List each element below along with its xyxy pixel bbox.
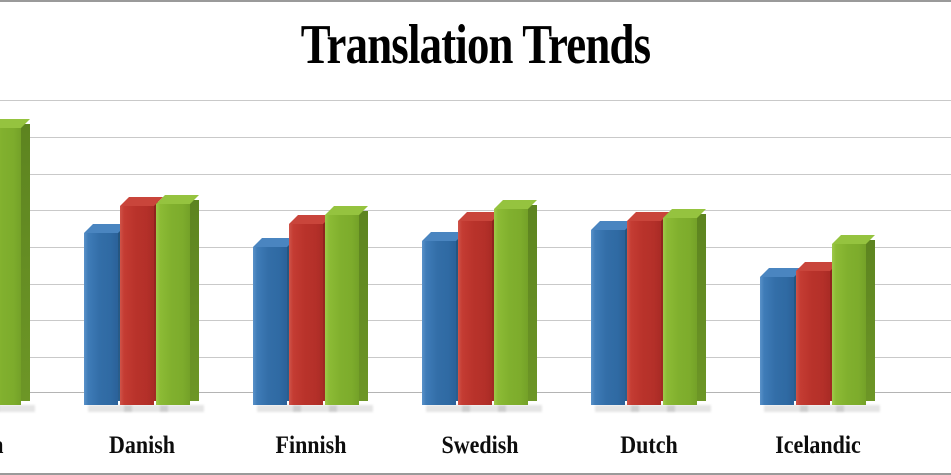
- bar-front-face: [458, 221, 492, 405]
- bar-swedish-series-3[interactable]: [494, 209, 528, 405]
- bar-front-face: [832, 244, 866, 405]
- category-label-danish: Danish: [62, 432, 220, 460]
- bar-danish-series-2[interactable]: [120, 206, 154, 405]
- bar-dutch-series-2[interactable]: [627, 221, 661, 405]
- bar-danish-series-1[interactable]: [84, 233, 118, 405]
- bar-shadow: [160, 405, 204, 412]
- bar-side-face: [359, 211, 368, 401]
- bar-side-face: [528, 205, 537, 401]
- category-label-icelandic: Icelandic: [738, 432, 896, 460]
- bar-shadow: [329, 405, 373, 412]
- chart-title: Translation Trends: [95, 14, 856, 76]
- bar-front-face: [422, 241, 456, 405]
- category-axis: vegianDanishFinnishSwedishDutchIcelandic: [0, 414, 951, 475]
- category-label-finnish: Finnish: [231, 432, 389, 460]
- category-label-dutch: Dutch: [569, 432, 727, 460]
- bar-finnish-series-1[interactable]: [253, 247, 287, 405]
- chart-container: Translation Trends vegianDanishFinnishSw…: [0, 0, 951, 475]
- bar-shadow: [0, 405, 35, 412]
- bar-dutch-series-1[interactable]: [591, 230, 625, 405]
- bar-icelandic-series-3[interactable]: [832, 244, 866, 405]
- bar-side-face: [190, 200, 199, 401]
- bars-layer: [0, 98, 951, 414]
- bar-norwegian-series-3[interactable]: [0, 128, 21, 405]
- bar-front-face: [289, 224, 323, 405]
- bar-front-face: [494, 209, 528, 405]
- bar-swedish-series-2[interactable]: [458, 221, 492, 405]
- bar-front-face: [760, 277, 794, 405]
- bar-side-face: [866, 240, 875, 401]
- bar-shadow: [667, 405, 711, 412]
- bar-front-face: [0, 128, 21, 405]
- plot-area: [0, 98, 951, 414]
- bar-front-face: [120, 206, 154, 405]
- bar-icelandic-series-2[interactable]: [796, 271, 830, 405]
- bar-front-face: [253, 247, 287, 405]
- bar-side-face: [697, 214, 706, 401]
- bar-finnish-series-3[interactable]: [325, 215, 359, 405]
- bar-front-face: [84, 233, 118, 405]
- bar-shadow: [836, 405, 880, 412]
- bar-dutch-series-3[interactable]: [663, 218, 697, 405]
- bar-icelandic-series-1[interactable]: [760, 277, 794, 405]
- bar-front-face: [796, 271, 830, 405]
- category-label-swedish: Swedish: [400, 432, 558, 460]
- bar-swedish-series-1[interactable]: [422, 241, 456, 405]
- bar-finnish-series-2[interactable]: [289, 224, 323, 405]
- bar-shadow: [498, 405, 542, 412]
- bar-side-face: [21, 124, 30, 401]
- bar-front-face: [156, 204, 190, 405]
- bar-front-face: [325, 215, 359, 405]
- bar-danish-series-3[interactable]: [156, 204, 190, 405]
- bar-front-face: [627, 221, 661, 405]
- bar-front-face: [591, 230, 625, 405]
- bar-front-face: [663, 218, 697, 405]
- category-label-norwegian: vegian: [0, 432, 52, 460]
